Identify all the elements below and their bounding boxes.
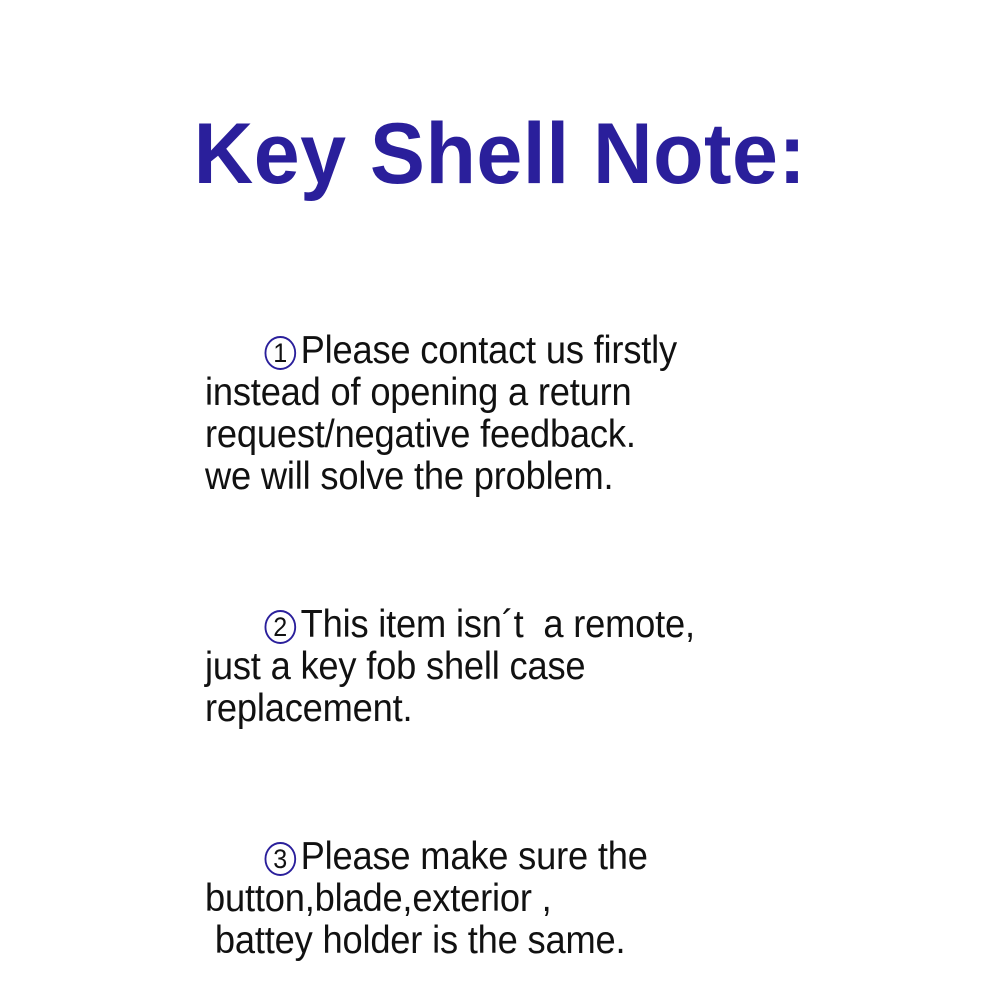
note-item-3: 3Please make sure the button,blade,exter…: [205, 794, 782, 1000]
note-item-2: 2This item isn´t a remote, just a key fo…: [205, 562, 782, 772]
note-list: 1Please contact us firstly instead of op…: [205, 288, 825, 1000]
note-item-1: 1Please contact us firstly instead of op…: [205, 288, 782, 540]
circled-number-3-icon: 3: [264, 842, 296, 876]
circled-number-1-icon: 1: [264, 336, 296, 370]
page-title: Key Shell Note:: [20, 104, 980, 204]
circled-number-2-icon: 2: [264, 610, 296, 644]
note-canvas: Key Shell Note: 1Please contact us first…: [0, 0, 1000, 1000]
